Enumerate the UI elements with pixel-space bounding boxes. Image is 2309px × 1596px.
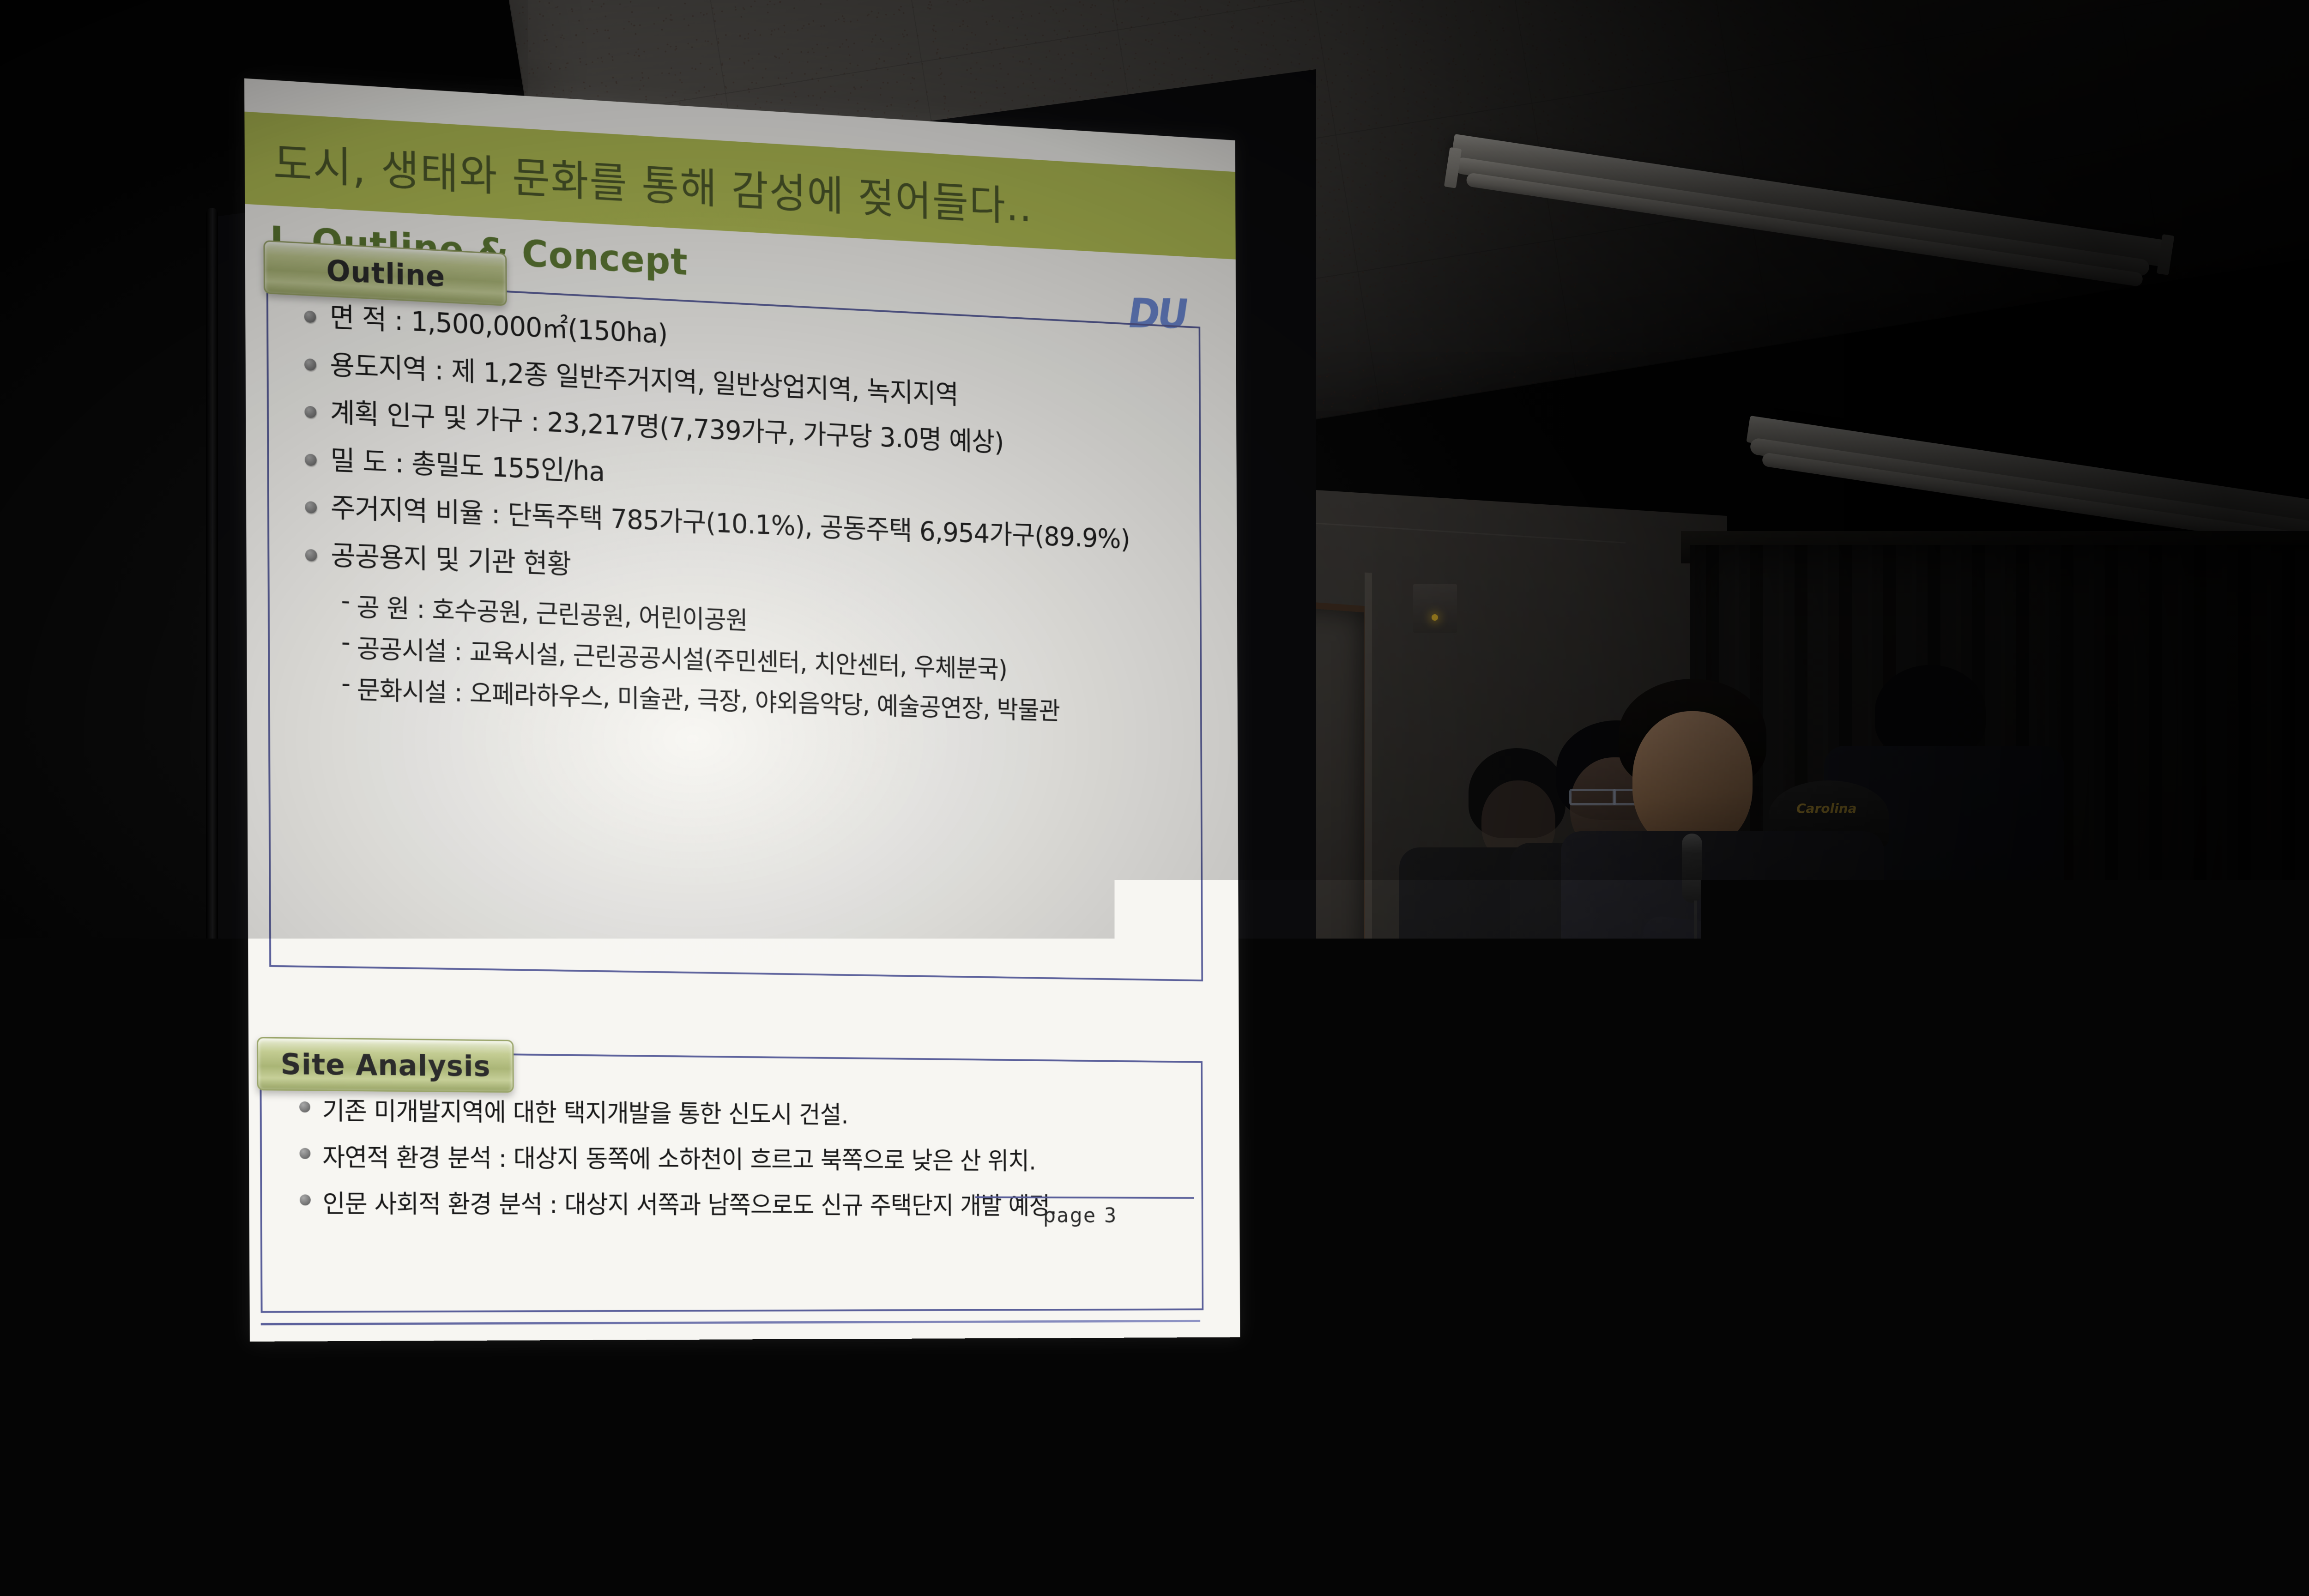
bullet-dot-icon — [305, 549, 317, 561]
bullet-dot-icon — [304, 358, 316, 370]
tab-site-analysis[interactable]: Site Analysis — [257, 1037, 514, 1093]
dash-icon: - — [341, 669, 351, 699]
tab-site-analysis-label: Site Analysis — [280, 1047, 490, 1082]
outline-bullet-list: 면 적 : 1,500,000㎡(150ha) 용도지역 : 제 1,2종 일반… — [304, 298, 1203, 735]
tab-outline-label: Outline — [326, 254, 445, 293]
slide-banner-title: 도시, 생태와 문화를 통해 감성에 젖어들다.. — [245, 127, 1033, 233]
screenshot-root: Carolina 도시, 생태와 — [0, 0, 2309, 1596]
bullet-text: 공공용지 및 기관 현황 — [331, 538, 571, 581]
bullet-dot-icon — [304, 406, 316, 418]
bullet-text: 자연적 환경 분석 : 대상지 동쪽에 소하천이 흐르고 북쪽으로 낮은 산 위… — [322, 1137, 1036, 1177]
side-table — [1600, 1135, 1854, 1322]
sub-bullet-text: 공 원 : 호수공원, 근린공원, 어린이공원 — [357, 586, 748, 636]
sleeve-stripe — [1406, 1044, 1461, 1048]
indicator-light — [1432, 614, 1438, 621]
projected-slide: 도시, 생태와 문화를 통해 감성에 젖어들다.. Ⅰ. Outline & C… — [244, 79, 1240, 1342]
bullet-dot-icon — [300, 1148, 311, 1159]
bullet-dot-icon — [299, 1101, 310, 1112]
bullet-text: 밀 도 : 총밀도 155인/ha — [330, 442, 604, 489]
bullet-dot-icon — [300, 1194, 311, 1205]
face — [1632, 711, 1753, 850]
door-frame — [1365, 573, 1372, 1118]
bullet-text: 인문 사회적 환경 분석 : 대상지 서쪽과 남쪽으로도 신규 주택단지 개발 … — [322, 1184, 1056, 1221]
projection-screen: 도시, 생태와 문화를 통해 감성에 젖어들다.. Ⅰ. Outline & C… — [203, 69, 1325, 1432]
bullet-dot-icon — [305, 501, 317, 514]
wall-sign-box — [1413, 584, 1457, 633]
page-number: page 3 — [1043, 1203, 1118, 1227]
bullet-text: 기존 미개발지역에 대한 택지개발을 통한 신도시 건설. — [322, 1090, 848, 1130]
dash-icon: - — [341, 586, 350, 616]
footer-divider — [261, 1320, 1200, 1325]
microphone — [1682, 834, 1702, 903]
bullet-dot-icon — [305, 453, 317, 466]
dash-icon: - — [341, 627, 351, 657]
bullet-dot-icon — [304, 310, 316, 323]
list-item: 자연적 환경 분석 : 대상지 동쪽에 소하천이 흐르고 북쪽으로 낮은 산 위… — [299, 1137, 1198, 1178]
